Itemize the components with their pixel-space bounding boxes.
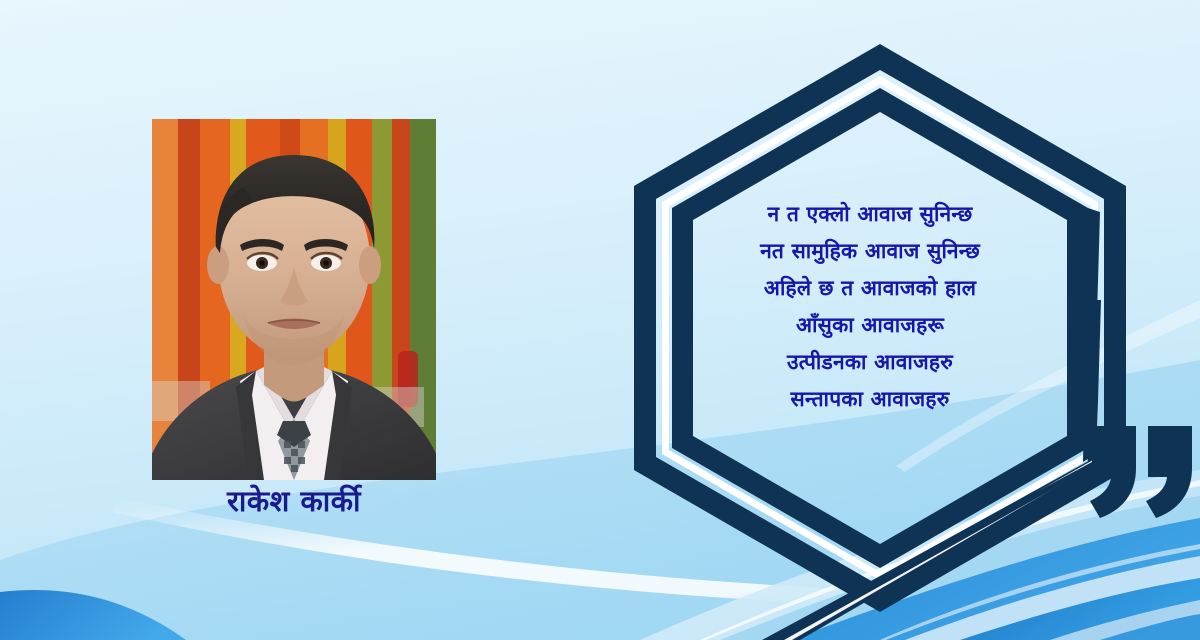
quote-line-1: न त एक्लो आवाज सुनिन्छ xyxy=(660,196,1080,233)
quote-line-6: सन्तापका आवाजहरु xyxy=(660,381,1080,418)
quote-line-2: नत सामुहिक आवाज सुनिन्छ xyxy=(660,233,1080,270)
quote-line-4: आँसुका आवाजहरू xyxy=(660,307,1080,344)
quote-line-5: उत्पीडनका आवाजहरु xyxy=(660,344,1080,381)
quote-card-canvas: राकेश कार्की xyxy=(0,0,1200,640)
quote-text-block: न त एक्लो आवाज सुनिन्छ नत सामुहिक आवाज स… xyxy=(660,196,1080,418)
quote-line-3: अहिले छ त आवाजको हाल xyxy=(660,270,1080,307)
right-double-quotation-mark-icon xyxy=(1090,426,1192,518)
